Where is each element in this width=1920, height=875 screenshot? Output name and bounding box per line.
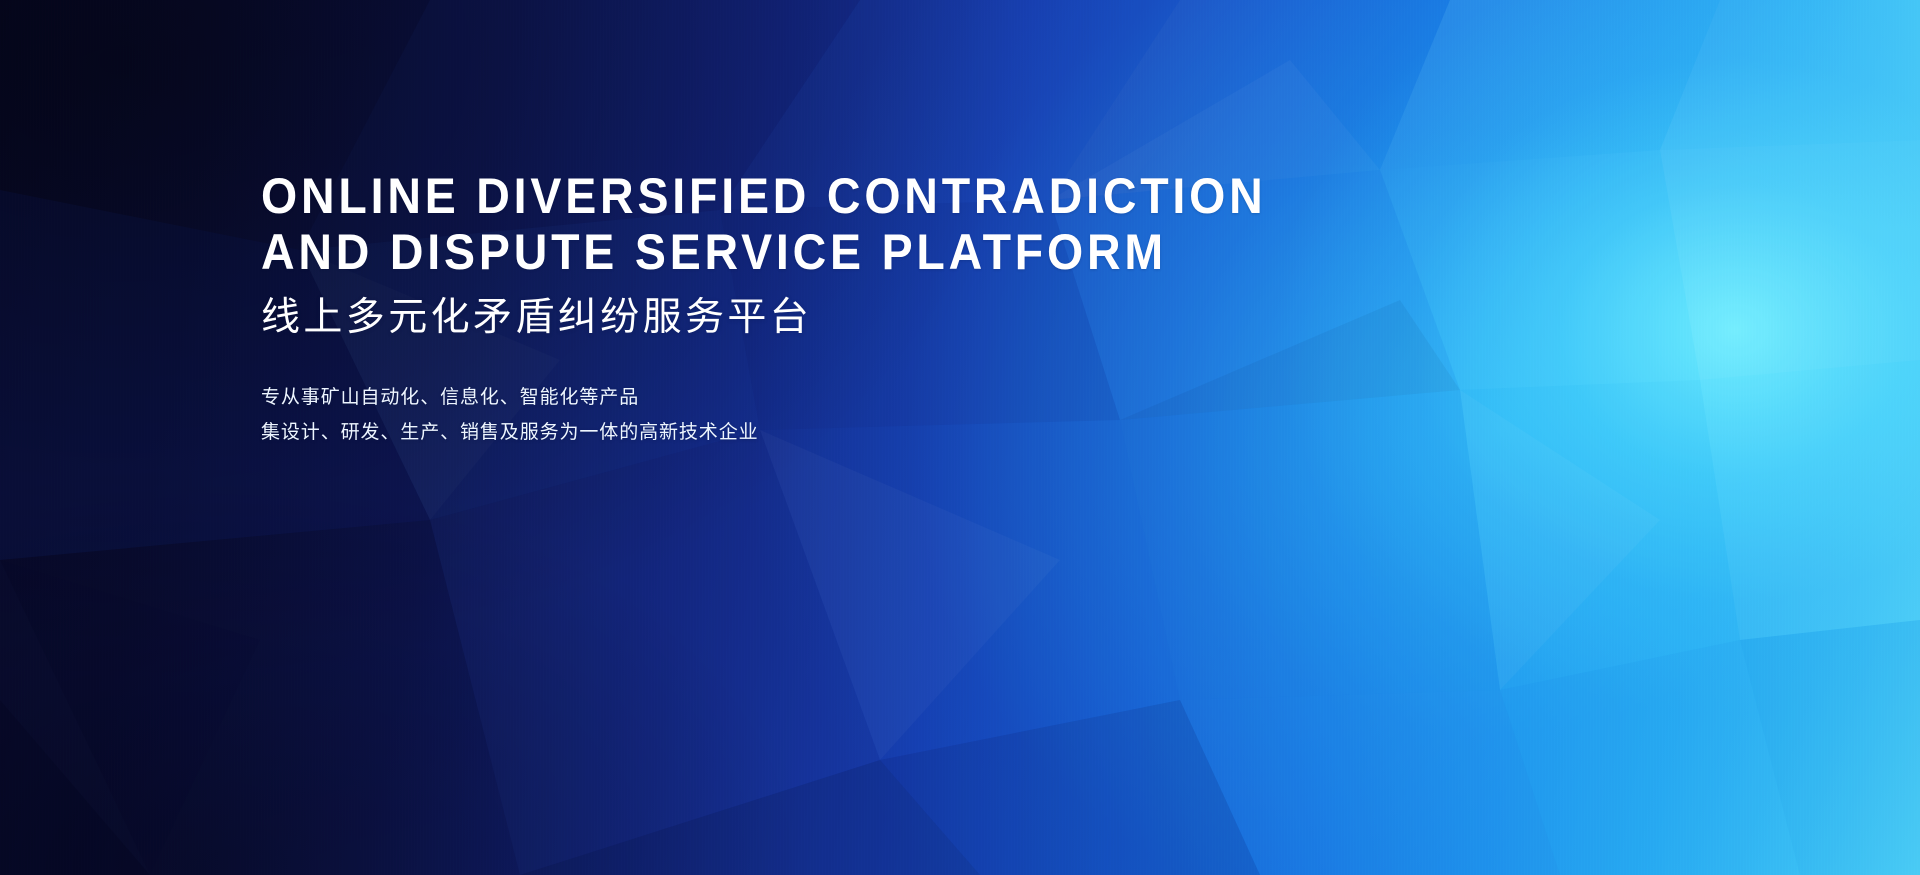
hero-subtitle: 线上多元化矛盾纠纷服务平台 [261, 292, 1461, 344]
hero-headline-line-1: ONLINE DIVERSIFIED CONTRADICTION [261, 168, 1377, 224]
hero-content: ONLINE DIVERSIFIED CONTRADICTION AND DIS… [261, 168, 1461, 450]
hero-banner: ONLINE DIVERSIFIED CONTRADICTION AND DIS… [0, 0, 1920, 875]
hero-headline: ONLINE DIVERSIFIED CONTRADICTION AND DIS… [261, 168, 1377, 280]
hero-description-line-1: 专从事矿山自动化、信息化、智能化等产品 [261, 380, 1461, 415]
hero-description-line-2: 集设计、研发、生产、销售及服务为一体的高新技术企业 [261, 415, 1461, 450]
facet-group-cyan-right [1380, 0, 1920, 875]
hero-description: 专从事矿山自动化、信息化、智能化等产品 集设计、研发、生产、销售及服务为一体的高… [261, 380, 1461, 450]
hero-headline-line-2: AND DISPUTE SERVICE PLATFORM [261, 224, 1377, 280]
